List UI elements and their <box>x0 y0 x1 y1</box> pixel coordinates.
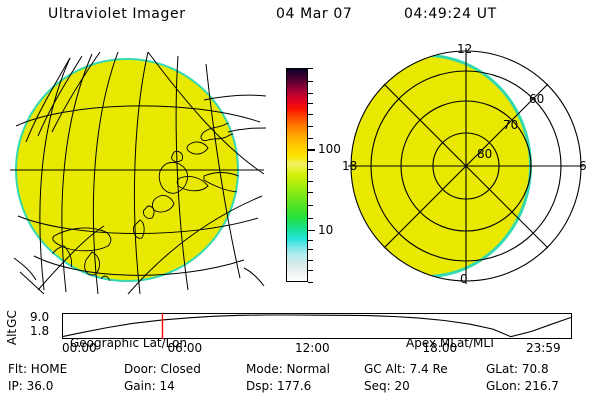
header-bar: Ultraviolet Imager 04 Mar 07 04:49:24 UT <box>0 6 600 28</box>
colorbar-gradient <box>286 68 308 282</box>
status-gain: Gain: 14 <box>124 379 175 393</box>
colorbar-minor-tick-18 <box>308 81 313 82</box>
gcalt-ytick-min: 1.8 <box>30 324 49 338</box>
uvi-display-root: Ultraviolet Imager 04 Mar 07 04:49:24 UT <box>0 0 600 400</box>
mlat-label-60: 60 <box>529 92 544 106</box>
colorbar-minor-tick-9 <box>308 181 313 182</box>
observation-time: 04:49:24 UT <box>404 6 497 22</box>
mlt-spokes <box>348 48 584 284</box>
colorbar-minor-tick-11 <box>308 161 313 162</box>
colorbar-minor-tick-16 <box>308 103 313 104</box>
gcalt-ytick-max: 9.0 <box>30 310 49 324</box>
colorbar-label-100: 100 <box>318 142 341 156</box>
apex-polar-svg <box>340 40 592 296</box>
status-glat: GLat: 70.8 <box>486 362 549 376</box>
status-glon: GLon: 216.7 <box>486 379 559 393</box>
colorbar-minor-tick-15 <box>308 114 313 115</box>
colorbar-minor-tick-19 <box>308 68 313 69</box>
colorbar-minor-tick-6 <box>308 218 313 219</box>
status-seq: Seq: 20 <box>364 379 410 393</box>
page-title: Ultraviolet Imager <box>48 6 186 22</box>
gcalt-timeseries-plot[interactable] <box>62 313 572 339</box>
colorbar-tick-marks <box>308 68 316 282</box>
colorbar-label-10: 10 <box>318 223 333 237</box>
status-gc-alt: GC Alt: 7.4 Re <box>364 362 448 376</box>
mlt-label-12: 12 <box>457 42 472 56</box>
colorbar-minor-tick-4 <box>308 240 313 241</box>
colorbar-minor-tick-3 <box>308 249 313 250</box>
mlt-label-0: 0 <box>460 272 468 286</box>
colorbar-minor-tick-10 <box>308 169 313 170</box>
timeseries-xlabel-3: 18:00 <box>423 341 458 355</box>
colorbar-minor-tick-2 <box>308 260 313 261</box>
geographic-image-panel[interactable]: Geographic Lat/Lon <box>8 40 266 296</box>
status-flight: Flt: HOME <box>8 362 67 376</box>
mlt-label-18: 18 <box>342 159 357 173</box>
colorbar-minor-tick-1 <box>308 270 313 271</box>
status-door: Door: Closed <box>124 362 201 376</box>
timeseries-xlabel-0: 00:00 <box>62 341 97 355</box>
gcalt-plot-svg <box>62 313 572 339</box>
status-mode: Mode: Normal <box>246 362 330 376</box>
timeseries-xlabel-1: 06:00 <box>168 341 203 355</box>
colorbar-minor-tick-13 <box>308 138 313 139</box>
colorbar-minor-tick-0 <box>308 282 313 283</box>
colorbar-minor-tick-8 <box>308 192 313 193</box>
apex-polar-panel[interactable]: 12 6 0 18 80 70 60 Apex MLat/MLT <box>340 40 592 296</box>
colorbar-minor-tick-17 <box>308 93 313 94</box>
geographic-globe-svg <box>8 40 266 296</box>
status-readout: Flt: HOME IP: 36.0 Door: Closed Gain: 14… <box>0 362 600 398</box>
colorbar-major-tick-10 <box>308 230 315 232</box>
timeseries-xlabel-4: 23:59 <box>526 341 561 355</box>
observation-date: 04 Mar 07 <box>276 6 352 22</box>
mlt-label-6: 6 <box>579 159 587 173</box>
colorbar: photon cm-2s-1 10010 <box>268 46 338 296</box>
mlat-label-80: 80 <box>477 147 492 161</box>
timeseries-xlabel-2: 12:00 <box>295 341 330 355</box>
status-ip: IP: 36.0 <box>8 379 53 393</box>
colorbar-minor-tick-14 <box>308 126 313 127</box>
colorbar-major-tick-100 <box>308 149 315 151</box>
mlat-label-70: 70 <box>503 118 518 132</box>
status-dsp: Dsp: 177.6 <box>246 379 311 393</box>
plot-frame <box>63 314 572 339</box>
colorbar-minor-tick-7 <box>308 205 313 206</box>
timeseries-x-axis-labels: 00:0006:0012:0018:0023:59 <box>0 341 600 357</box>
